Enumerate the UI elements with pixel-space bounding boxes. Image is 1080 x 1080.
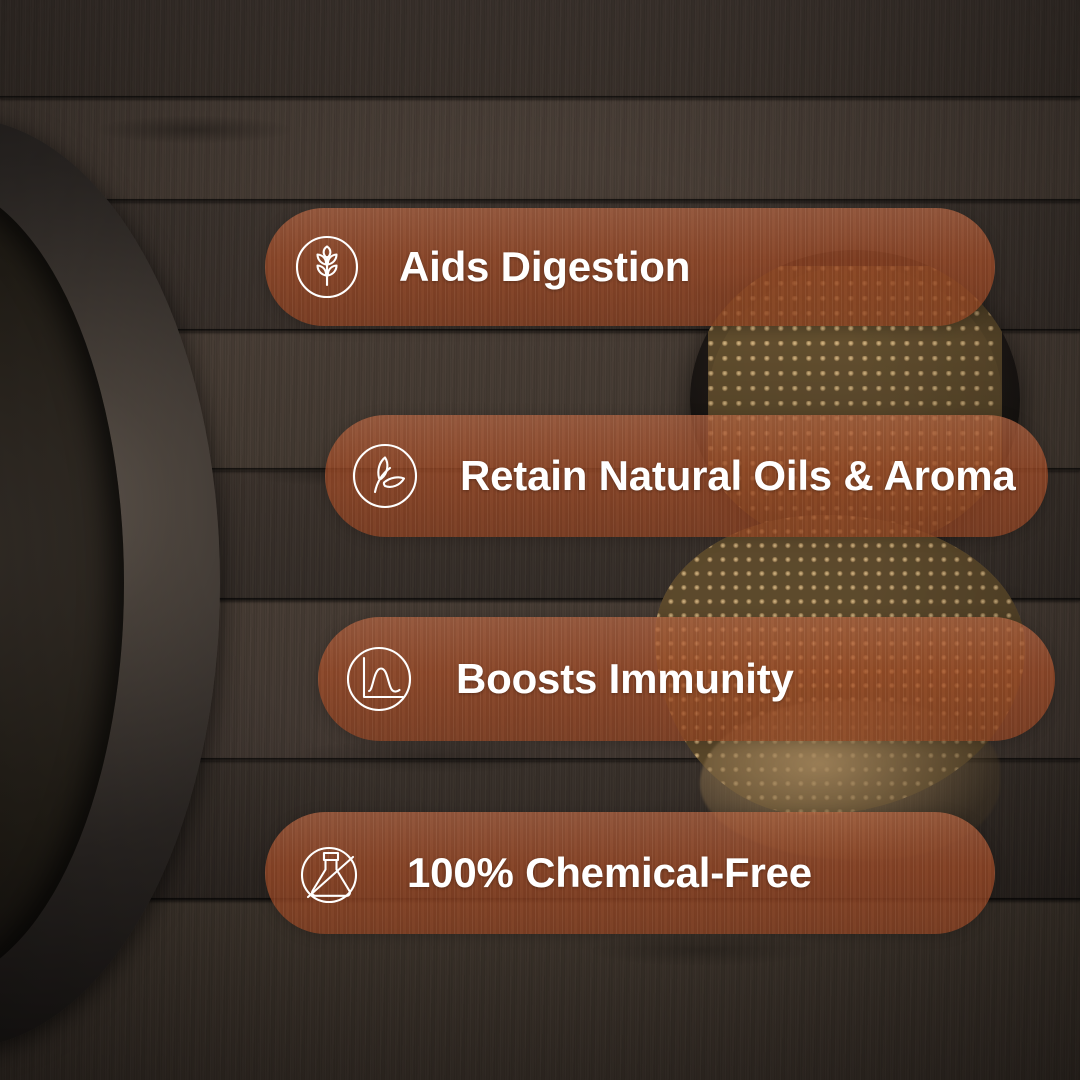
feature-label: Boosts Immunity [456,655,794,703]
no-chemicals-flask-icon [291,833,371,913]
leaf-sprig-icon [346,437,424,515]
feature-pill-boosts-immunity[interactable]: Boosts Immunity [318,617,1055,741]
feature-label: Aids Digestion [399,243,690,291]
immunity-graph-icon [340,640,418,718]
wheat-stalk-icon [291,231,363,303]
feature-pill-chemical-free[interactable]: 100% Chemical-Free [265,812,995,934]
feature-label: Retain Natural Oils & Aroma [460,452,1016,500]
product-benefits-graphic: Aids Digestion Retain Natural Oils & Aro… [0,0,1080,1080]
feature-label: 100% Chemical-Free [407,849,812,897]
feature-pill-retain-natural-oils-aroma[interactable]: Retain Natural Oils & Aroma [325,415,1048,537]
feature-pill-aids-digestion[interactable]: Aids Digestion [265,208,995,326]
